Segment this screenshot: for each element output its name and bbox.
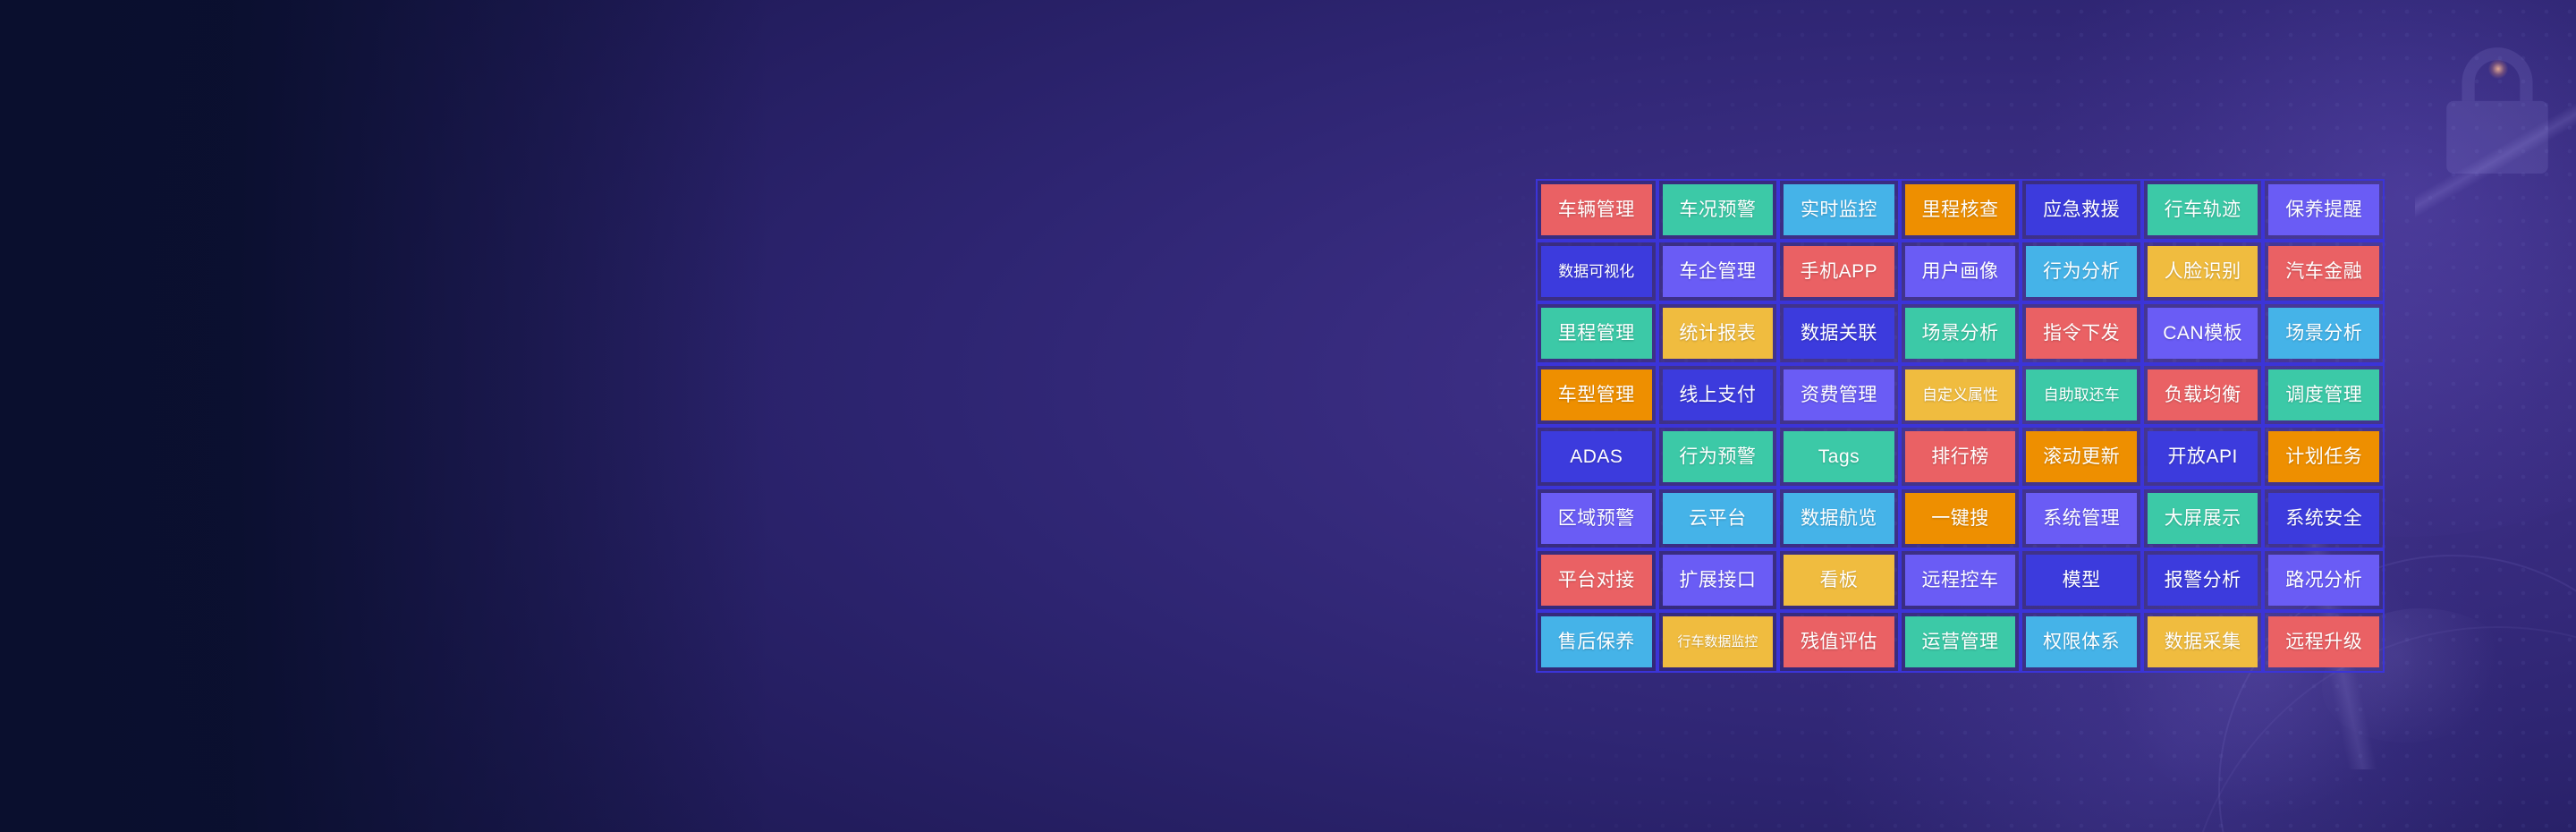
feature-tile[interactable]: 扩展接口 [1663, 555, 1774, 606]
feature-tile-cell[interactable]: 车企管理 [1657, 241, 1779, 302]
feature-tile-cell[interactable]: CAN模板 [2142, 302, 2264, 364]
feature-tile-cell[interactable]: 平台对接 [1536, 549, 1657, 611]
feature-tile-cell[interactable]: 数据关联 [1778, 302, 1900, 364]
feature-grid-row: 区域预警云平台数据航览一键搜系统管理大屏展示系统安全 [1536, 488, 2385, 549]
feature-tile[interactable]: 售后保养 [1541, 616, 1652, 667]
feature-tile[interactable]: 报警分析 [2148, 555, 2258, 606]
feature-grid-row: 车辆管理车况预警实时监控里程核查应急救援行车轨迹保养提醒 [1536, 179, 2385, 241]
feature-tile[interactable]: 用户画像 [1905, 246, 2016, 297]
feature-tile[interactable]: 数据可视化 [1541, 246, 1652, 297]
feature-tile-cell[interactable]: 远程升级 [2263, 611, 2385, 673]
feature-tile[interactable]: 自助取还车 [2026, 369, 2137, 420]
feature-tile[interactable]: 实时监控 [1784, 184, 1894, 235]
feature-tile-cell[interactable]: 路况分析 [2263, 549, 2385, 611]
feature-tile-cell[interactable]: 车型管理 [1536, 364, 1657, 426]
feature-tile-cell[interactable]: 售后保养 [1536, 611, 1657, 673]
feature-tile-cell[interactable]: 行为分析 [2021, 241, 2142, 302]
feature-tile-cell[interactable]: 线上支付 [1657, 364, 1779, 426]
feature-tile[interactable]: 统计报表 [1663, 308, 1774, 359]
feature-tile[interactable]: 应急救援 [2026, 184, 2137, 235]
feature-tile-cell[interactable]: 场景分析 [2263, 302, 2385, 364]
feature-tile-cell[interactable]: 人脸识别 [2142, 241, 2264, 302]
feature-tile[interactable]: 数据关联 [1784, 308, 1894, 359]
feature-tile[interactable]: 行车数据监控 [1663, 616, 1774, 667]
feature-tile[interactable]: 场景分析 [2268, 308, 2379, 359]
feature-tile-cell[interactable]: 应急救援 [2021, 179, 2142, 241]
feature-tile[interactable]: 大屏展示 [2148, 493, 2258, 544]
feature-tile[interactable]: 区域预警 [1541, 493, 1652, 544]
feature-tile-cell[interactable]: 模型 [2021, 549, 2142, 611]
feature-tile-cell[interactable]: 里程核查 [1900, 179, 2021, 241]
feature-tile[interactable]: 行为预警 [1663, 431, 1774, 482]
feature-grid-row: 售后保养行车数据监控残值评估运营管理权限体系数据采集远程升级 [1536, 611, 2385, 673]
feature-tile[interactable]: 行为分析 [2026, 246, 2137, 297]
feature-tile[interactable]: 保养提醒 [2268, 184, 2379, 235]
feature-tile[interactable]: 排行榜 [1905, 431, 2016, 482]
feature-tile-cell[interactable]: 系统安全 [2263, 488, 2385, 549]
feature-tile-cell[interactable]: 资费管理 [1778, 364, 1900, 426]
feature-tile[interactable]: 车况预警 [1663, 184, 1774, 235]
feature-tile[interactable]: 车型管理 [1541, 369, 1652, 420]
feature-tile-cell[interactable]: 运营管理 [1900, 611, 2021, 673]
feature-tile-cell[interactable]: 排行榜 [1900, 426, 2021, 488]
feature-tile-cell[interactable]: 大屏展示 [2142, 488, 2264, 549]
feature-tile-cell[interactable]: 滚动更新 [2021, 426, 2142, 488]
feature-tile[interactable]: 开放API [2148, 431, 2258, 482]
feature-tile[interactable]: 人脸识别 [2148, 246, 2258, 297]
feature-tile[interactable]: 模型 [2026, 555, 2137, 606]
background-light-ray-top [2415, 63, 2576, 233]
feature-tile[interactable]: Tags [1784, 431, 1894, 482]
feature-tile[interactable]: 调度管理 [2268, 369, 2379, 420]
feature-tile-cell[interactable]: 区域预警 [1536, 488, 1657, 549]
feature-tile-cell[interactable]: 自定义属性 [1900, 364, 2021, 426]
feature-tile[interactable]: 资费管理 [1784, 369, 1894, 420]
feature-tile-cell[interactable]: 数据采集 [2142, 611, 2264, 673]
feature-tile-cell[interactable]: 报警分析 [2142, 549, 2264, 611]
feature-tile-cell[interactable]: 计划任务 [2263, 426, 2385, 488]
feature-grid-row: 数据可视化车企管理手机APP用户画像行为分析人脸识别汽车金融 [1536, 241, 2385, 302]
feature-grid-row: ADAS行为预警Tags排行榜滚动更新开放API计划任务 [1536, 426, 2385, 488]
feature-tile[interactable]: 系统安全 [2268, 493, 2379, 544]
feature-tile[interactable]: 云平台 [1663, 493, 1774, 544]
feature-tile-cell[interactable]: 行车数据监控 [1657, 611, 1779, 673]
feature-tile[interactable]: 手机APP [1784, 246, 1894, 297]
page-background: 车辆管理车况预警实时监控里程核查应急救援行车轨迹保养提醒数据可视化车企管理手机A… [0, 0, 2576, 832]
feature-tile-cell[interactable]: 远程控车 [1900, 549, 2021, 611]
feature-tile[interactable]: 运营管理 [1905, 616, 2016, 667]
feature-tile[interactable]: 场景分析 [1905, 308, 2016, 359]
background-spark [2488, 59, 2508, 79]
feature-tile[interactable]: 残值评估 [1784, 616, 1894, 667]
feature-tile-cell[interactable]: 用户画像 [1900, 241, 2021, 302]
feature-tile[interactable]: 数据航览 [1784, 493, 1894, 544]
feature-tile[interactable]: 数据采集 [2148, 616, 2258, 667]
feature-tile[interactable]: 看板 [1784, 555, 1894, 606]
feature-tile[interactable]: 车企管理 [1663, 246, 1774, 297]
feature-tile-cell[interactable]: 里程管理 [1536, 302, 1657, 364]
feature-tile-cell[interactable]: 看板 [1778, 549, 1900, 611]
feature-tile-cell[interactable]: 手机APP [1778, 241, 1900, 302]
feature-tile-cell[interactable]: 汽车金融 [2263, 241, 2385, 302]
feature-tile-cell[interactable]: 指令下发 [2021, 302, 2142, 364]
feature-tile[interactable]: 系统管理 [2026, 493, 2137, 544]
feature-tile[interactable]: 计划任务 [2268, 431, 2379, 482]
feature-tile[interactable]: ADAS [1541, 431, 1652, 482]
feature-tile[interactable]: 远程升级 [2268, 616, 2379, 667]
feature-tile-cell[interactable]: 车况预警 [1657, 179, 1779, 241]
feature-tile-cell[interactable]: 一键搜 [1900, 488, 2021, 549]
feature-tile-cell[interactable]: 实时监控 [1778, 179, 1900, 241]
feature-tile[interactable]: 远程控车 [1905, 555, 2016, 606]
feature-tile[interactable]: 汽车金融 [2268, 246, 2379, 297]
feature-tile-cell[interactable]: ADAS [1536, 426, 1657, 488]
feature-tile[interactable]: 平台对接 [1541, 555, 1652, 606]
feature-tile-cell[interactable]: 车辆管理 [1536, 179, 1657, 241]
feature-tile[interactable]: 路况分析 [2268, 555, 2379, 606]
feature-tile[interactable]: 车辆管理 [1541, 184, 1652, 235]
feature-tile-cell[interactable]: 云平台 [1657, 488, 1779, 549]
feature-tile[interactable]: 负载均衡 [2148, 369, 2258, 420]
feature-tile[interactable]: CAN模板 [2148, 308, 2258, 359]
feature-grid-row: 平台对接扩展接口看板远程控车模型报警分析路况分析 [1536, 549, 2385, 611]
feature-tile[interactable]: 里程管理 [1541, 308, 1652, 359]
feature-tile[interactable]: 滚动更新 [2026, 431, 2137, 482]
feature-tile[interactable]: 行车轨迹 [2148, 184, 2258, 235]
feature-tile-cell[interactable]: 残值评估 [1778, 611, 1900, 673]
feature-tile-cell[interactable]: 统计报表 [1657, 302, 1779, 364]
feature-tile-cell[interactable]: 系统管理 [2021, 488, 2142, 549]
feature-tile-cell[interactable]: 开放API [2142, 426, 2264, 488]
feature-tile-cell[interactable]: 扩展接口 [1657, 549, 1779, 611]
feature-grid-row: 车型管理线上支付资费管理自定义属性自助取还车负载均衡调度管理 [1536, 364, 2385, 426]
feature-tile[interactable]: 权限体系 [2026, 616, 2137, 667]
feature-tile-cell[interactable]: 负载均衡 [2142, 364, 2264, 426]
feature-tile[interactable]: 线上支付 [1663, 369, 1774, 420]
feature-tile-cell[interactable]: Tags [1778, 426, 1900, 488]
feature-grid-row: 里程管理统计报表数据关联场景分析指令下发CAN模板场景分析 [1536, 302, 2385, 364]
feature-tile-cell[interactable]: 权限体系 [2021, 611, 2142, 673]
feature-tile-cell[interactable]: 调度管理 [2263, 364, 2385, 426]
feature-tile-cell[interactable]: 数据可视化 [1536, 241, 1657, 302]
feature-tile[interactable]: 一键搜 [1905, 493, 2016, 544]
feature-tile-cell[interactable]: 行车轨迹 [2142, 179, 2264, 241]
feature-tile-cell[interactable]: 行为预警 [1657, 426, 1779, 488]
feature-tile[interactable]: 自定义属性 [1905, 369, 2016, 420]
feature-tile-cell[interactable]: 场景分析 [1900, 302, 2021, 364]
feature-grid: 车辆管理车况预警实时监控里程核查应急救援行车轨迹保养提醒数据可视化车企管理手机A… [1536, 179, 2385, 673]
feature-tile-cell[interactable]: 保养提醒 [2263, 179, 2385, 241]
feature-tile-cell[interactable]: 数据航览 [1778, 488, 1900, 549]
feature-tile[interactable]: 里程核查 [1905, 184, 2016, 235]
feature-tile-cell[interactable]: 自助取还车 [2021, 364, 2142, 426]
feature-tile[interactable]: 指令下发 [2026, 308, 2137, 359]
lock-icon [2438, 43, 2556, 177]
